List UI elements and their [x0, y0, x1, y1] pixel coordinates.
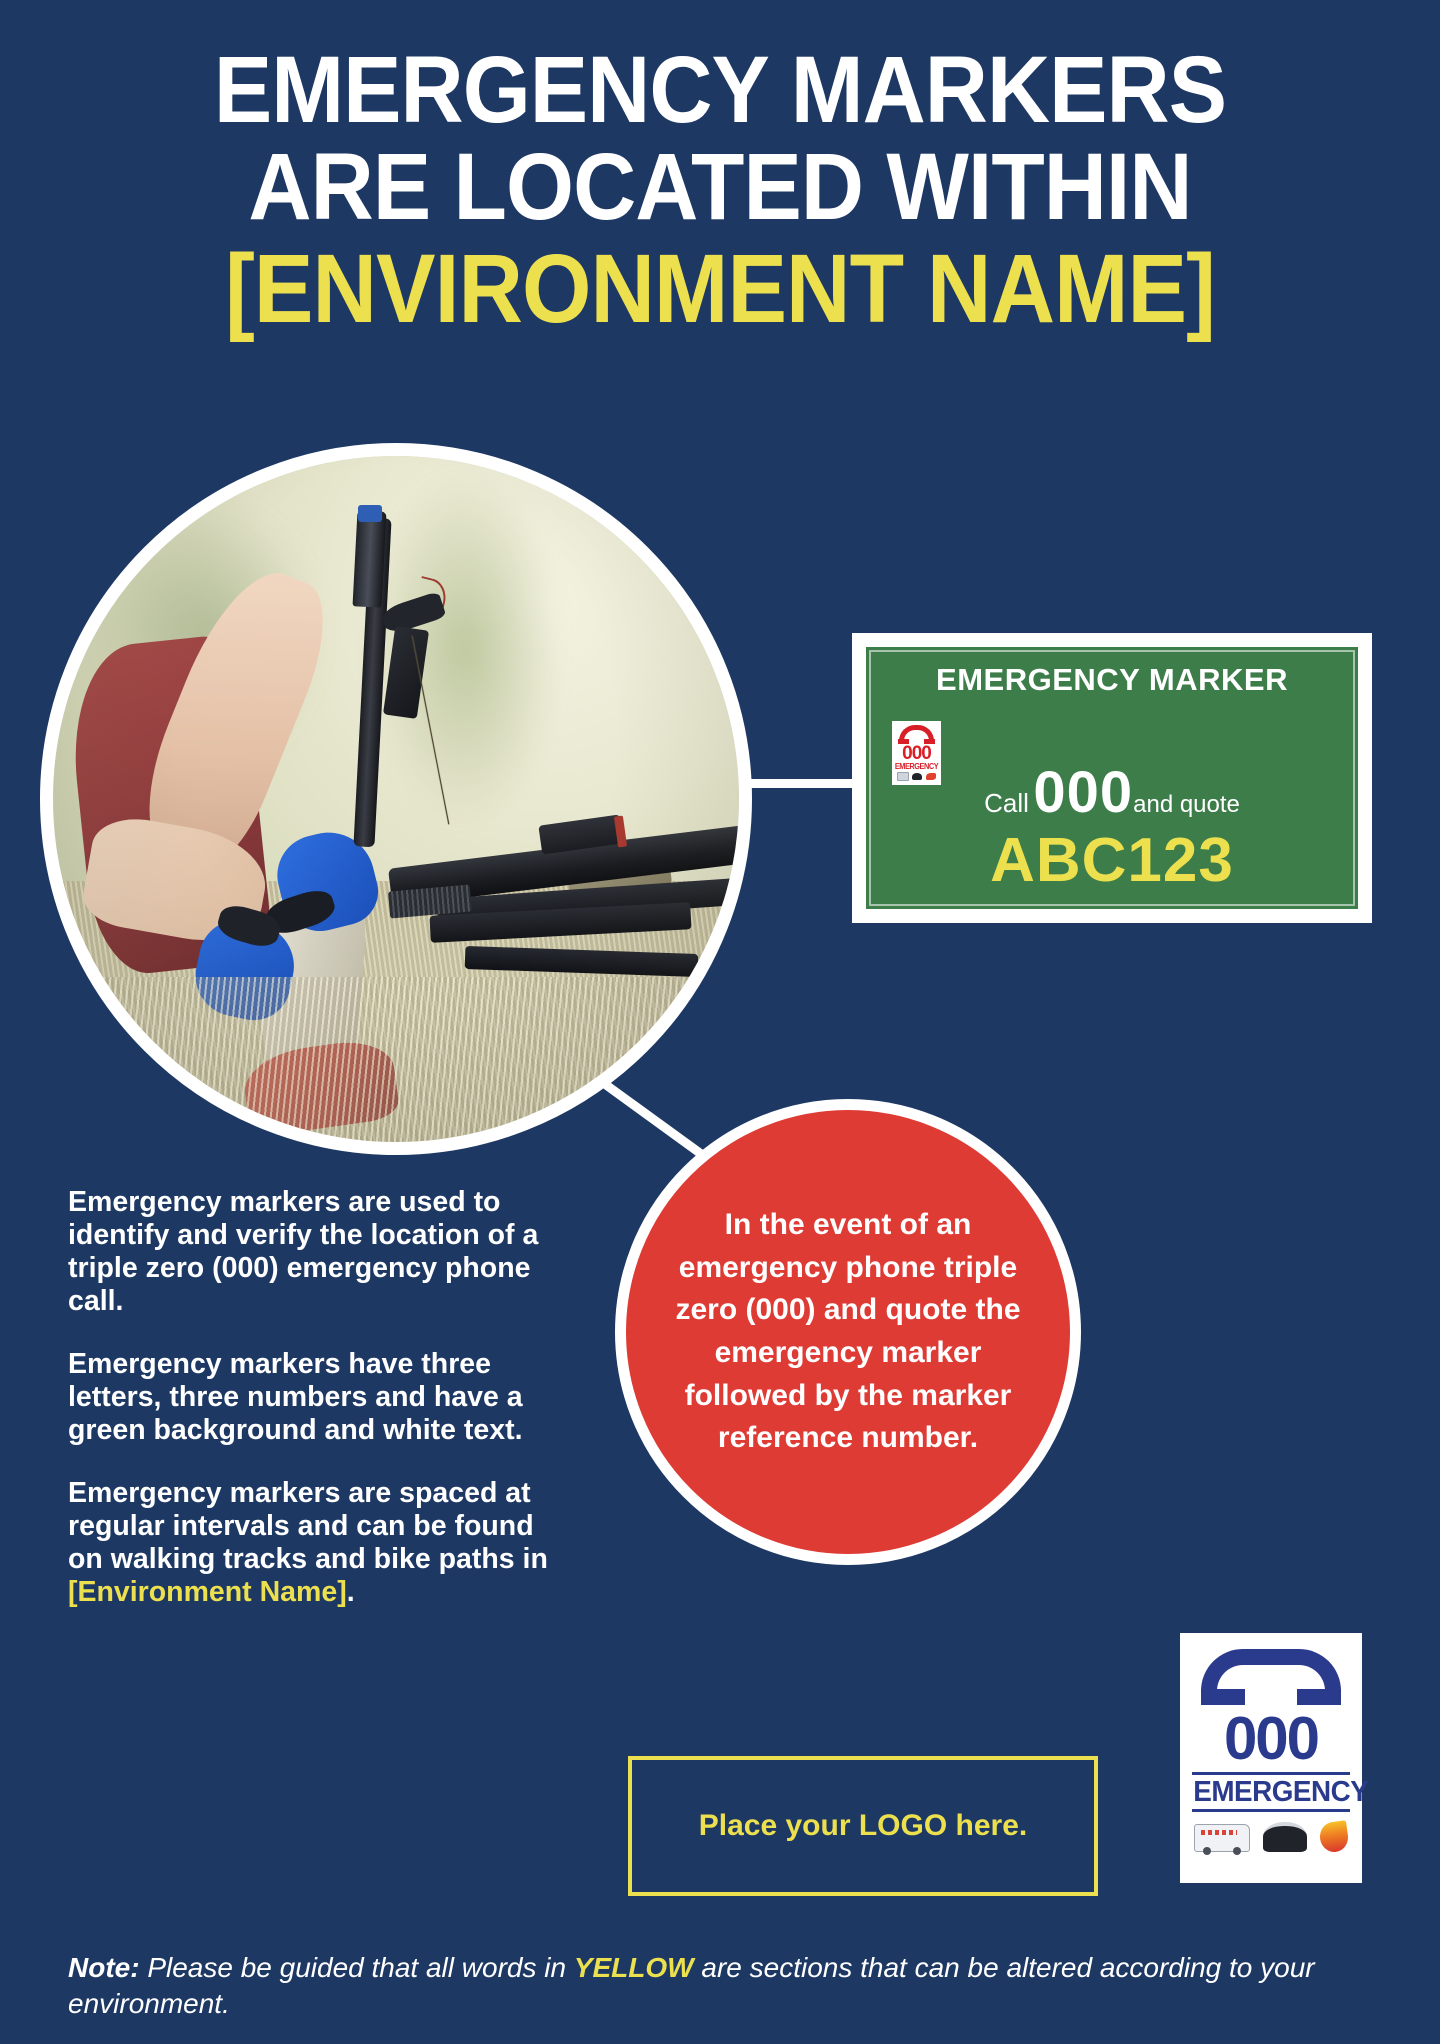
poster-canvas: EMERGENCY MARKERS ARE LOCATED WITHIN [EN…	[0, 0, 1440, 2044]
title-line-1: EMERGENCY MARKERS	[58, 42, 1383, 139]
poster-title: EMERGENCY MARKERS ARE LOCATED WITHIN [EN…	[0, 42, 1440, 339]
footer-note: Note: Please be guided that all words in…	[68, 1950, 1378, 2022]
sign-heading: EMERGENCY MARKER	[866, 662, 1358, 698]
instruction-text: In the event of an emergency phone tripl…	[657, 1204, 1039, 1460]
title-line-environment: [ENVIRONMENT NAME]	[58, 236, 1383, 339]
instruction-red-circle: In the event of an emergency phone tripl…	[615, 1099, 1081, 1565]
body-paragraph-3-environment: [Environment Name]	[68, 1576, 347, 1608]
note-label: Note:	[68, 1952, 140, 1983]
body-paragraph-2: Emergency markers have three letters, th…	[68, 1348, 548, 1447]
sign-quote-words: and quote	[1133, 791, 1240, 818]
sign-call-line: Call 000and quote	[866, 759, 1358, 826]
triple-zero-emergency-logo: 000 EMERGENCY	[1180, 1633, 1362, 1883]
police-hat-icon	[1263, 1822, 1307, 1852]
emergency-logo-word: EMERGENCY	[1193, 1778, 1349, 1807]
emergency-marker-sign: EMERGENCY MARKER 000 EMERGENCY Call 000a…	[852, 633, 1372, 923]
sign-green-panel: EMERGENCY MARKER 000 EMERGENCY Call 000a…	[866, 647, 1358, 909]
sign-marker-reference: ABC123	[866, 825, 1358, 896]
body-text-column: Emergency markers are used to identify a…	[68, 1186, 548, 1610]
logo-placeholder-box[interactable]: Place your LOGO here.	[628, 1756, 1098, 1896]
connector-line-to-sign	[744, 779, 864, 788]
note-text-before: Please be guided that all words in	[140, 1952, 574, 1983]
emergency-logo-digits: 000	[1190, 1707, 1352, 1770]
body-paragraph-3: Emergency markers are spaced at regular …	[68, 1477, 548, 1609]
body-paragraph-3-prefix: Emergency markers are spaced at regular …	[68, 1477, 548, 1575]
sign-phone-number: 000	[1033, 760, 1133, 825]
note-highlight: YELLOW	[574, 1952, 694, 1983]
cyclist-photo-illustration	[53, 456, 739, 1142]
title-line-2: ARE LOCATED WITHIN	[58, 139, 1383, 236]
telephone-handset-icon	[1201, 1649, 1341, 1695]
sign-call-word: Call	[984, 788, 1029, 818]
body-paragraph-1: Emergency markers are used to identify a…	[68, 1186, 548, 1318]
body-paragraph-3-suffix: .	[347, 1576, 355, 1608]
cyclist-photo-circle	[40, 443, 752, 1155]
logo-placeholder-label: Place your LOGO here.	[699, 1809, 1027, 1843]
ambulance-icon	[1194, 1824, 1250, 1852]
fire-flame-icon	[1318, 1820, 1350, 1854]
